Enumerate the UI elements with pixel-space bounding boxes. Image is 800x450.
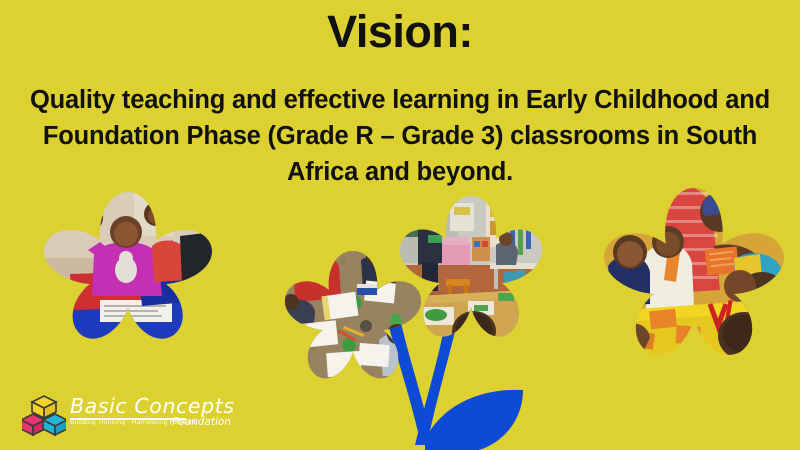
basic-concepts-cubes-icon — [22, 394, 66, 436]
vision-statement-text: Quality teaching and effective learning … — [18, 82, 782, 191]
slide-canvas: Vision: Quality teaching and effective l… — [0, 0, 800, 450]
logo[interactable]: Basic Concepts Building Thinking - Harne… — [22, 392, 218, 438]
logo-name: Basic Concepts — [70, 394, 235, 418]
page-title: Vision: — [0, 6, 800, 58]
flower-photo-teacher-with-learners — [602, 186, 786, 358]
flower-photo-children-raising-hands — [42, 188, 214, 344]
flower-photo-classroom-session — [398, 193, 544, 341]
logo-suffix: Foundation — [172, 416, 231, 428]
